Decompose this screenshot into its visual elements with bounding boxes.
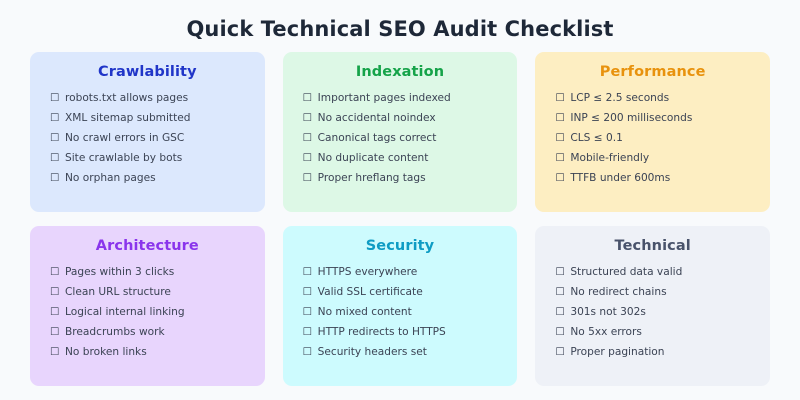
checklist-item-label: Site crawlable by bots — [65, 148, 182, 168]
checklist-item-label: Breadcrumbs work — [65, 322, 165, 342]
empty-checkbox-icon[interactable]: ☐ — [303, 342, 314, 362]
checklist-item-label: No orphan pages — [65, 168, 156, 188]
checklist-item-label: INP ≤ 200 milliseconds — [570, 108, 692, 128]
empty-checkbox-icon[interactable]: ☐ — [555, 148, 566, 168]
card-title: Security — [297, 238, 504, 254]
empty-checkbox-icon[interactable]: ☐ — [50, 108, 61, 128]
checklist-card-technical: Technical☐Structured data valid☐No redir… — [535, 226, 770, 386]
checklist-item-label: No crawl errors in GSC — [65, 128, 184, 148]
empty-checkbox-icon[interactable]: ☐ — [555, 128, 566, 148]
empty-checkbox-icon[interactable]: ☐ — [303, 262, 314, 282]
empty-checkbox-icon[interactable]: ☐ — [303, 282, 314, 302]
checklist-item-label: Valid SSL certificate — [318, 282, 423, 302]
card-title: Performance — [549, 64, 756, 80]
checklist-item-label: Security headers set — [318, 342, 427, 362]
checklist-item-label: HTTPS everywhere — [318, 262, 418, 282]
checklist-item[interactable]: ☐robots.txt allows pages — [50, 88, 251, 108]
empty-checkbox-icon[interactable]: ☐ — [555, 108, 566, 128]
checklist-item[interactable]: ☐Proper hreflang tags — [303, 168, 504, 188]
empty-checkbox-icon[interactable]: ☐ — [303, 88, 314, 108]
empty-checkbox-icon[interactable]: ☐ — [303, 108, 314, 128]
empty-checkbox-icon[interactable]: ☐ — [555, 88, 566, 108]
checklist-item[interactable]: ☐Logical internal linking — [50, 302, 251, 322]
checklist-items: ☐robots.txt allows pages☐XML sitemap sub… — [44, 88, 251, 188]
checklist-card-grid: Crawlability☐robots.txt allows pages☐XML… — [0, 52, 800, 400]
page-title: Quick Technical SEO Audit Checklist — [0, 0, 800, 52]
empty-checkbox-icon[interactable]: ☐ — [555, 322, 566, 342]
empty-checkbox-icon[interactable]: ☐ — [50, 88, 61, 108]
empty-checkbox-icon[interactable]: ☐ — [50, 262, 61, 282]
checklist-item[interactable]: ☐Structured data valid — [555, 262, 756, 282]
checklist-items: ☐Structured data valid☐No redirect chain… — [549, 262, 756, 362]
checklist-items: ☐Important pages indexed☐No accidental n… — [297, 88, 504, 188]
checklist-item[interactable]: ☐XML sitemap submitted — [50, 108, 251, 128]
checklist-item[interactable]: ☐301s not 302s — [555, 302, 756, 322]
checklist-item[interactable]: ☐Mobile-friendly — [555, 148, 756, 168]
checklist-item[interactable]: ☐No accidental noindex — [303, 108, 504, 128]
checklist-item-label: LCP ≤ 2.5 seconds — [570, 88, 669, 108]
empty-checkbox-icon[interactable]: ☐ — [50, 128, 61, 148]
empty-checkbox-icon[interactable]: ☐ — [303, 302, 314, 322]
checklist-item[interactable]: ☐Pages within 3 clicks — [50, 262, 251, 282]
checklist-item[interactable]: ☐Valid SSL certificate — [303, 282, 504, 302]
checklist-item-label: Mobile-friendly — [570, 148, 649, 168]
empty-checkbox-icon[interactable]: ☐ — [555, 168, 566, 188]
checklist-item[interactable]: ☐No mixed content — [303, 302, 504, 322]
checklist-item[interactable]: ☐No orphan pages — [50, 168, 251, 188]
checklist-item[interactable]: ☐Canonical tags correct — [303, 128, 504, 148]
checklist-item[interactable]: ☐Clean URL structure — [50, 282, 251, 302]
checklist-card-security: Security☐HTTPS everywhere☐Valid SSL cert… — [283, 226, 518, 386]
checklist-item-label: No mixed content — [318, 302, 412, 322]
checklist-item-label: No 5xx errors — [570, 322, 642, 342]
empty-checkbox-icon[interactable]: ☐ — [50, 302, 61, 322]
checklist-item[interactable]: ☐HTTP redirects to HTTPS — [303, 322, 504, 342]
card-title: Technical — [549, 238, 756, 254]
empty-checkbox-icon[interactable]: ☐ — [303, 128, 314, 148]
empty-checkbox-icon[interactable]: ☐ — [555, 262, 566, 282]
checklist-item[interactable]: ☐LCP ≤ 2.5 seconds — [555, 88, 756, 108]
checklist-item-label: Canonical tags correct — [318, 128, 437, 148]
checklist-item-label: Clean URL structure — [65, 282, 171, 302]
checklist-items: ☐Pages within 3 clicks☐Clean URL structu… — [44, 262, 251, 362]
empty-checkbox-icon[interactable]: ☐ — [555, 342, 566, 362]
card-title: Architecture — [44, 238, 251, 254]
checklist-item-label: Proper pagination — [570, 342, 664, 362]
empty-checkbox-icon[interactable]: ☐ — [50, 168, 61, 188]
checklist-items: ☐LCP ≤ 2.5 seconds☐INP ≤ 200 millisecond… — [549, 88, 756, 188]
checklist-item[interactable]: ☐TTFB under 600ms — [555, 168, 756, 188]
checklist-item-label: CLS ≤ 0.1 — [570, 128, 622, 148]
checklist-item-label: No redirect chains — [570, 282, 666, 302]
checklist-page: Quick Technical SEO Audit Checklist Craw… — [0, 0, 800, 400]
checklist-card-architecture: Architecture☐Pages within 3 clicks☐Clean… — [30, 226, 265, 386]
empty-checkbox-icon[interactable]: ☐ — [555, 282, 566, 302]
checklist-item-label: 301s not 302s — [570, 302, 646, 322]
checklist-item-label: Logical internal linking — [65, 302, 185, 322]
checklist-item[interactable]: ☐No duplicate content — [303, 148, 504, 168]
checklist-item-label: No broken links — [65, 342, 147, 362]
card-title: Crawlability — [44, 64, 251, 80]
empty-checkbox-icon[interactable]: ☐ — [555, 302, 566, 322]
checklist-item[interactable]: ☐Important pages indexed — [303, 88, 504, 108]
checklist-item[interactable]: ☐Breadcrumbs work — [50, 322, 251, 342]
checklist-item-label: Important pages indexed — [318, 88, 451, 108]
empty-checkbox-icon[interactable]: ☐ — [303, 148, 314, 168]
checklist-item-label: No duplicate content — [318, 148, 429, 168]
checklist-item-label: Structured data valid — [570, 262, 682, 282]
checklist-item[interactable]: ☐No 5xx errors — [555, 322, 756, 342]
empty-checkbox-icon[interactable]: ☐ — [50, 322, 61, 342]
checklist-item-label: HTTP redirects to HTTPS — [318, 322, 446, 342]
checklist-item[interactable]: ☐Site crawlable by bots — [50, 148, 251, 168]
empty-checkbox-icon[interactable]: ☐ — [303, 322, 314, 342]
checklist-item[interactable]: ☐No redirect chains — [555, 282, 756, 302]
checklist-card-indexation: Indexation☐Important pages indexed☐No ac… — [283, 52, 518, 212]
checklist-item-label: Proper hreflang tags — [318, 168, 426, 188]
checklist-card-crawlability: Crawlability☐robots.txt allows pages☐XML… — [30, 52, 265, 212]
checklist-item[interactable]: ☐INP ≤ 200 milliseconds — [555, 108, 756, 128]
checklist-item[interactable]: ☐Proper pagination — [555, 342, 756, 362]
checklist-item[interactable]: ☐No crawl errors in GSC — [50, 128, 251, 148]
checklist-card-performance: Performance☐LCP ≤ 2.5 seconds☐INP ≤ 200 … — [535, 52, 770, 212]
empty-checkbox-icon[interactable]: ☐ — [303, 168, 314, 188]
checklist-item-label: No accidental noindex — [318, 108, 436, 128]
empty-checkbox-icon[interactable]: ☐ — [50, 342, 61, 362]
checklist-item[interactable]: ☐HTTPS everywhere — [303, 262, 504, 282]
checklist-item-label: TTFB under 600ms — [570, 168, 670, 188]
checklist-item[interactable]: ☐No broken links — [50, 342, 251, 362]
checklist-item-label: robots.txt allows pages — [65, 88, 188, 108]
empty-checkbox-icon[interactable]: ☐ — [50, 282, 61, 302]
checklist-items: ☐HTTPS everywhere☐Valid SSL certificate☐… — [297, 262, 504, 362]
empty-checkbox-icon[interactable]: ☐ — [50, 148, 61, 168]
card-title: Indexation — [297, 64, 504, 80]
checklist-item-label: XML sitemap submitted — [65, 108, 190, 128]
checklist-item[interactable]: ☐Security headers set — [303, 342, 504, 362]
checklist-item[interactable]: ☐CLS ≤ 0.1 — [555, 128, 756, 148]
checklist-item-label: Pages within 3 clicks — [65, 262, 174, 282]
